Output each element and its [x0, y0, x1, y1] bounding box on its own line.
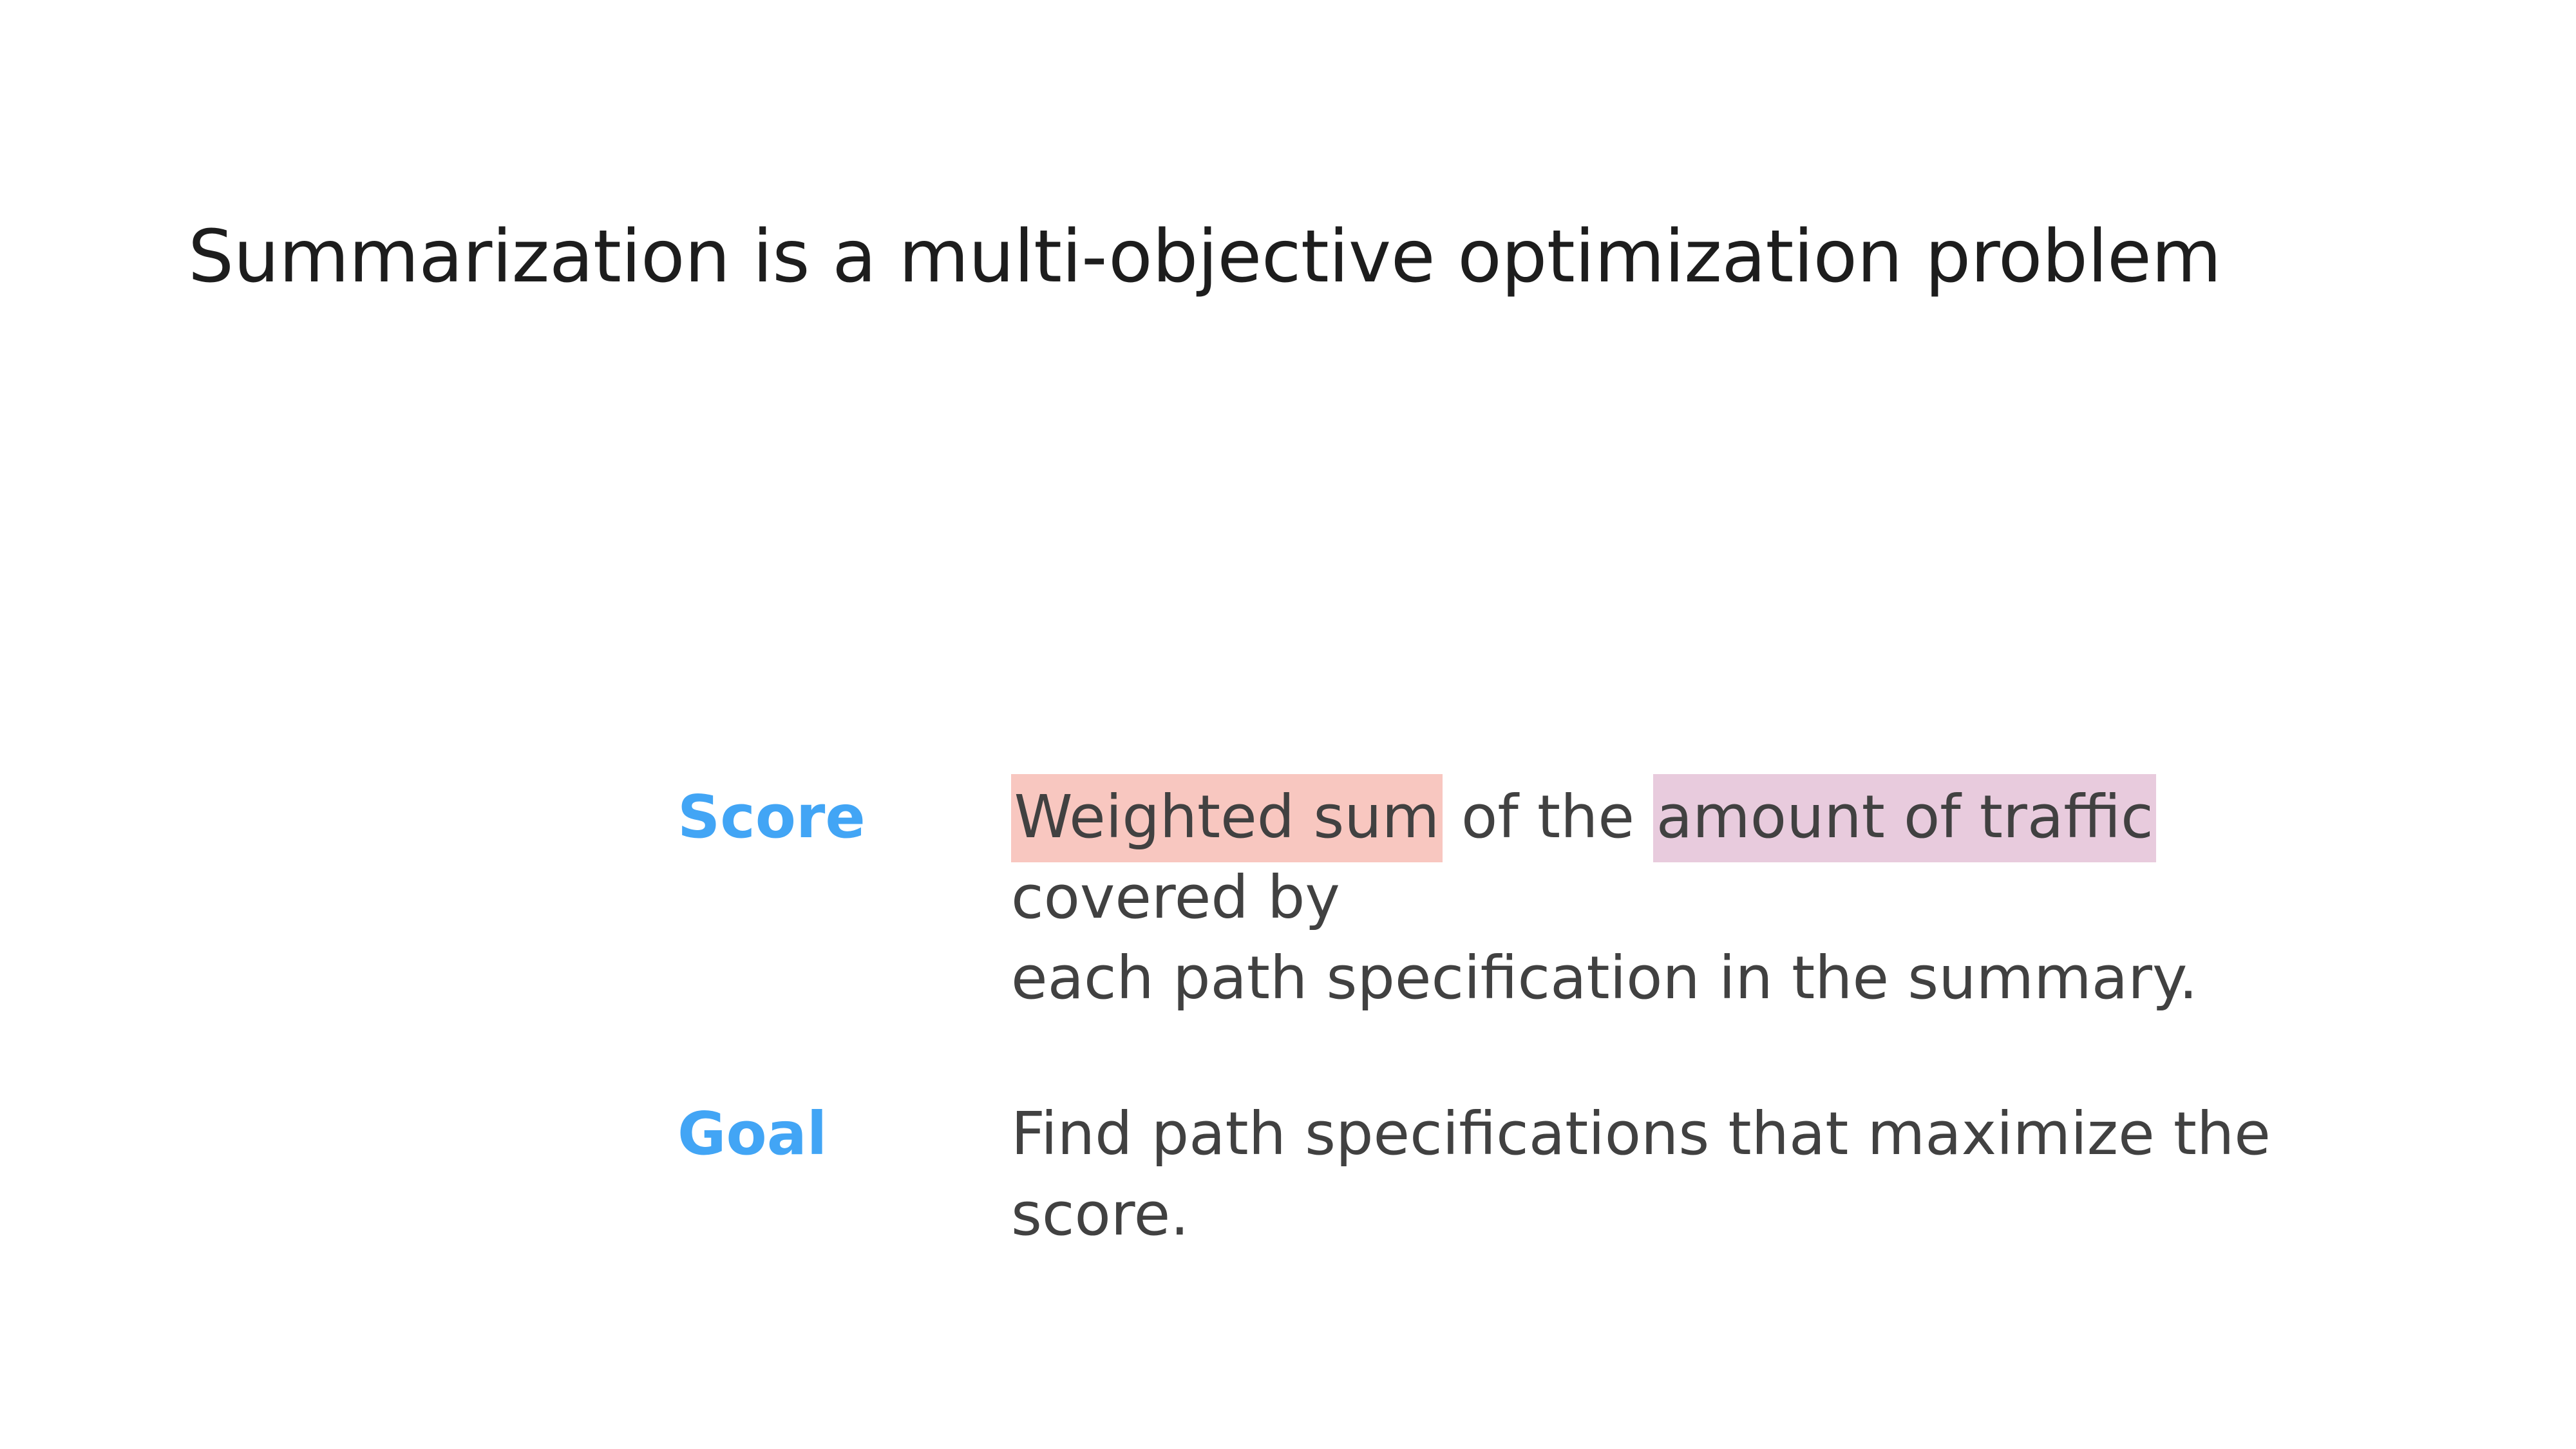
description-mid-text: of the [1443, 782, 1653, 851]
definition-term-goal: Goal [677, 1094, 999, 1174]
description-line-goal: Find path specifications that maximize t… [1011, 1094, 2338, 1255]
definition-description-score: Weighted sum of the amount of traffic co… [1011, 777, 2338, 1018]
description-line-2: each path specification in the summary. [1011, 938, 2338, 1018]
description-tail-text: covered by [1011, 863, 1340, 932]
page-title: Summarization is a multi-objective optim… [188, 214, 2378, 299]
definition-list: Score Weighted sum of the amount of traf… [677, 777, 2287, 1255]
definition-row-score: Score Weighted sum of the amount of traf… [677, 777, 2287, 1018]
slide-canvas: Summarization is a multi-objective optim… [0, 0, 2576, 1449]
definition-term-score: Score [677, 777, 999, 857]
highlight-amount-of-traffic: amount of traffic [1653, 774, 2156, 862]
definition-row-goal: Goal Find path specifications that maxim… [677, 1094, 2287, 1255]
highlight-weighted-sum: Weighted sum [1011, 774, 1443, 862]
definition-description-goal: Find path specifications that maximize t… [1011, 1094, 2338, 1255]
description-line-1: Weighted sum of the amount of traffic co… [1011, 777, 2338, 938]
